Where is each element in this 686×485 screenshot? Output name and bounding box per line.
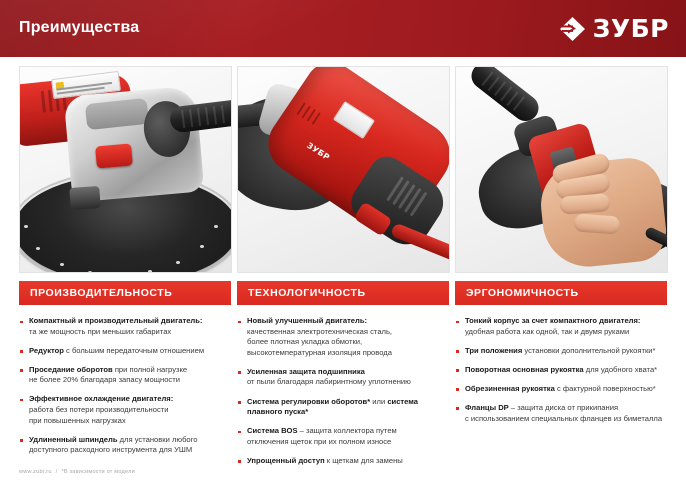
list-item: Поворотная основная рукоятка для удобног… bbox=[455, 365, 667, 376]
bullet-rest: для установки любого bbox=[118, 435, 198, 444]
product-photo-row: ЗУБР З bbox=[0, 66, 686, 271]
bullet-line: отключения щеток при их полном износе bbox=[247, 437, 391, 446]
bullet-strong: Новый улучшенный двигатель: bbox=[247, 316, 367, 325]
section-header-performance: ПРОИЗВОДИТЕЛЬНОСТЬ bbox=[19, 281, 231, 305]
list-item: Система регулировки оборотов* или систем… bbox=[237, 397, 449, 418]
bullet-strong: Система BOS bbox=[247, 426, 298, 435]
bullet-strong: Редуктор bbox=[29, 346, 64, 355]
list-item: Усиленная защита подшипника от пыли благ… bbox=[237, 367, 449, 388]
footer-separator: / bbox=[56, 469, 58, 475]
bullet-rest: установки дополнительной рукоятки* bbox=[522, 346, 655, 355]
footer-site[interactable]: www.zubr.ru bbox=[19, 469, 52, 475]
list-item: Новый улучшенный двигатель: качественная… bbox=[237, 316, 449, 358]
bullet-rest: с фактурной поверхностью* bbox=[555, 384, 656, 393]
bullet-line: от пыли благодаря лабиринтному уплотнени… bbox=[247, 377, 411, 386]
list-item: Компактный и производительный двигатель:… bbox=[19, 316, 231, 337]
brand-logo: ЗУБР bbox=[559, 16, 669, 42]
section-title: ТЕХНОЛОГИЧНОСТЬ bbox=[237, 287, 366, 299]
section-title: ЭРГОНОМИЧНОСТЬ bbox=[455, 287, 579, 299]
page-header: Преимущества ЗУБР bbox=[0, 0, 686, 57]
page-title: Преимущества bbox=[19, 19, 139, 37]
column-technology: ТЕХНОЛОГИЧНОСТЬ Новый улучшенный двигате… bbox=[237, 281, 449, 475]
list-item: Редуктор с большим передаточным отношени… bbox=[19, 346, 231, 357]
list-item: Упрощенный доступ к щеткам для замены bbox=[237, 456, 449, 467]
list-item: Три положения установки дополнительной р… bbox=[455, 346, 667, 357]
bullet-line: при повышенных нагрузках bbox=[29, 416, 126, 425]
finger bbox=[559, 193, 610, 214]
advantages-page: Преимущества ЗУБР bbox=[0, 0, 686, 485]
spindle-lock-button bbox=[95, 143, 133, 168]
list-item: Обрезиненная рукоятка с фактурной поверх… bbox=[455, 384, 667, 395]
bullet-rest: или bbox=[370, 397, 387, 406]
bullet-strong: Поворотная основная рукоятка bbox=[465, 365, 584, 374]
bullet-line: доступного расходного инструмента для УШ… bbox=[29, 445, 192, 454]
list-item: Эффективное охлаждение двигателя: работа… bbox=[19, 394, 231, 426]
page-footer: www.zubr.ru/*В зависимости от модели bbox=[19, 469, 135, 475]
bullet-strong: Усиленная защита подшипника bbox=[247, 367, 365, 376]
bullet-rest: – защита диска от прикипания bbox=[509, 403, 618, 412]
footer-note: *В зависимости от модели bbox=[61, 469, 134, 475]
list-item: Тонкий корпус за счет компактного двигат… bbox=[455, 316, 667, 337]
bullet-strong-2: система bbox=[387, 397, 418, 406]
bullet-rest: для удобного хвата* bbox=[584, 365, 657, 374]
thumb bbox=[573, 213, 620, 234]
bullet-line: более плотная укладка обмотки, bbox=[247, 337, 362, 346]
bullet-rest: при полной нагрузке bbox=[113, 365, 187, 374]
bullet-strong: Система регулировки оборотов* bbox=[247, 397, 370, 406]
column-ergonomics: ЭРГОНОМИЧНОСТЬ Тонкий корпус за счет ком… bbox=[455, 281, 667, 433]
bullet-strong: Эффективное охлаждение двигателя: bbox=[29, 394, 173, 403]
section-title: ПРОИЗВОДИТЕЛЬНОСТЬ bbox=[19, 287, 172, 299]
bullet-line: не более 20% благодаря запасу мощности bbox=[29, 375, 180, 384]
bullet-line: та же мощность при меньших габаритах bbox=[29, 327, 171, 336]
list-item: Проседание оборотов при полной нагрузке … bbox=[19, 365, 231, 386]
spindle-flange-nut bbox=[69, 186, 100, 210]
bullet-rest: – защита коллектора путем bbox=[298, 426, 397, 435]
list-item: Фланцы DP – защита диска от прикипания с… bbox=[455, 403, 667, 424]
bullet-strong: Компактный и производительный двигатель: bbox=[29, 316, 202, 325]
list-item: Система BOS – защита коллектора путем от… bbox=[237, 426, 449, 447]
bullet-line: удобная работа как одной, так и двумя ру… bbox=[465, 327, 629, 336]
bullet-line: работа без потери производительности bbox=[29, 405, 169, 414]
bullet-strong: Проседание оборотов bbox=[29, 365, 113, 374]
advantages-columns: ПРОИЗВОДИТЕЛЬНОСТЬ Компактный и производ… bbox=[0, 281, 686, 461]
column-performance: ПРОИЗВОДИТЕЛЬНОСТЬ Компактный и производ… bbox=[19, 281, 231, 464]
product-photo-in-hand: ЗУБР bbox=[455, 66, 668, 273]
bullet-strong: Обрезиненная рукоятка bbox=[465, 384, 555, 393]
brand-wordmark: ЗУБР bbox=[593, 16, 669, 42]
bullet-list-performance: Компактный и производительный двигатель:… bbox=[19, 316, 231, 456]
zubr-diamond-arrow-logo-icon bbox=[559, 16, 586, 42]
bullet-strong: Упрощенный доступ bbox=[247, 456, 325, 465]
bullet-line: с использованием специальных фланцев из … bbox=[465, 414, 662, 423]
product-photo-gearbox bbox=[19, 66, 232, 273]
bullet-line: высокотемпературная изоляция провода bbox=[247, 348, 392, 357]
bullet-strong: Тонкий корпус за счет компактного двигат… bbox=[465, 316, 640, 325]
list-item: Удлиненный шпиндель для установки любого… bbox=[19, 435, 231, 456]
bullet-strong: Три положения bbox=[465, 346, 522, 355]
bullet-line: качественная электротехническая сталь, bbox=[247, 327, 392, 336]
bullet-rest: с большим передаточным отношением bbox=[64, 346, 204, 355]
bullet-strong: Фланцы DP bbox=[465, 403, 509, 412]
section-header-ergonomics: ЭРГОНОМИЧНОСТЬ bbox=[455, 281, 667, 305]
bullet-list-technology: Новый улучшенный двигатель: качественная… bbox=[237, 316, 449, 467]
product-photo-motor-body: ЗУБР bbox=[237, 66, 450, 273]
bullet-list-ergonomics: Тонкий корпус за счет компактного двигат… bbox=[455, 316, 667, 424]
bullet-line: плавного пуска* bbox=[247, 407, 308, 416]
section-header-technology: ТЕХНОЛОГИЧНОСТЬ bbox=[237, 281, 449, 305]
bullet-rest: к щеткам для замены bbox=[325, 456, 403, 465]
bullet-strong: Удлиненный шпиндель bbox=[29, 435, 118, 444]
